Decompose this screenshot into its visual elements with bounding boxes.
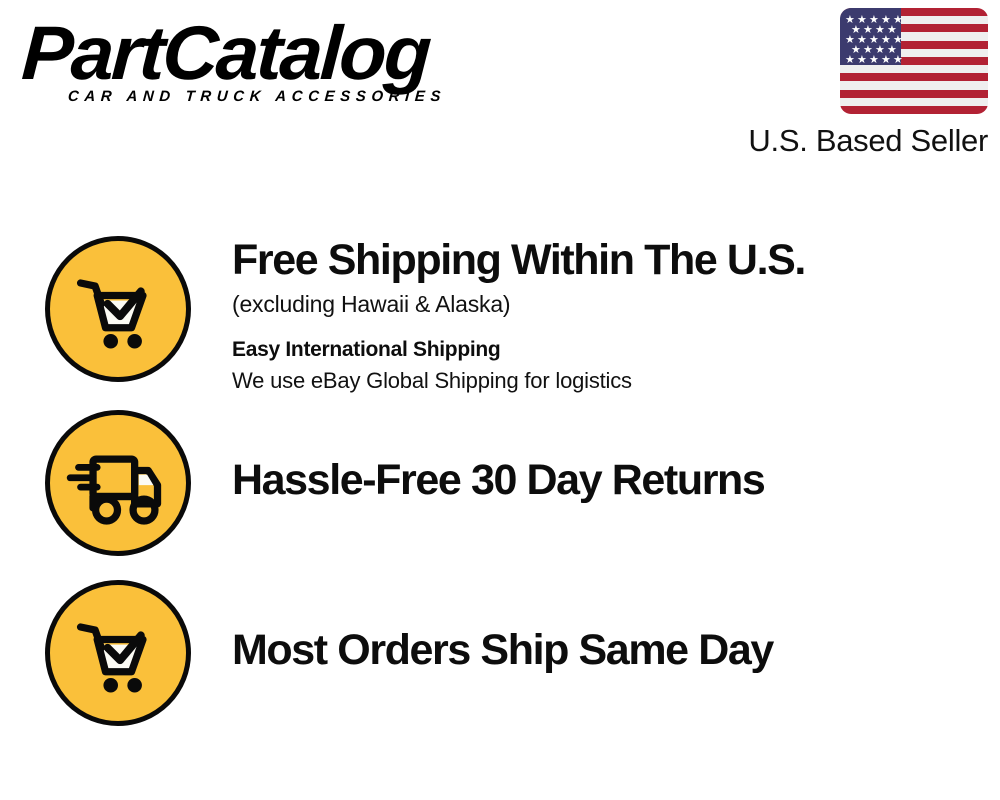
flag-star: ★ — [857, 55, 867, 66]
feature-row: Hassle-Free 30 Day Returns — [0, 410, 1000, 556]
delivery-truck-glyph — [66, 431, 170, 535]
brand-tagline: CAR AND TRUCK ACCESSORIES — [67, 88, 446, 105]
feature-text-block: Most Orders Ship Same Day — [232, 580, 1000, 674]
cart-check-glyph — [66, 257, 170, 361]
brand-wordmark: PartCatalog — [20, 16, 431, 92]
feature-subheading: Easy International Shipping — [232, 337, 1000, 363]
delivery-truck-icon — [45, 410, 191, 556]
feature-subnote: (excluding Hawaii & Alaska) — [232, 290, 1000, 320]
us-based-seller-label: U.S. Based Seller — [688, 123, 988, 159]
feature-heading: Most Orders Ship Same Day — [232, 628, 1000, 674]
flag-stripe — [840, 90, 988, 98]
feature-heading: Free Shipping Within The U.S. — [232, 238, 1000, 284]
feature-text-block: Hassle-Free 30 Day Returns — [232, 410, 1000, 504]
feature-subtext: We use eBay Global Shipping for logistic… — [232, 367, 1000, 396]
flag-stripe — [840, 106, 988, 114]
feature-text-block: Free Shipping Within The U.S. (excluding… — [232, 236, 1000, 395]
brand-logo[interactable]: PartCatalog CAR AND TRUCK ACCESSORIES — [22, 22, 502, 122]
feature-heading: Hassle-Free 30 Day Returns — [232, 458, 1000, 504]
cart-check-icon — [45, 236, 191, 382]
us-based-seller-badge: ★ ★ ★ ★ ★ ★ ★ ★ ★ ★ ★ ★ ★ ★ ★ ★ ★ ★ ★ ★ … — [688, 8, 988, 159]
flag-stripe — [840, 65, 988, 73]
flag-stripe — [840, 98, 988, 106]
flag-star: ★ — [845, 55, 855, 66]
feature-row: Free Shipping Within The U.S. (excluding… — [0, 236, 1000, 395]
flag-stripe — [840, 81, 988, 89]
us-flag-icon: ★ ★ ★ ★ ★ ★ ★ ★ ★ ★ ★ ★ ★ ★ ★ ★ ★ ★ ★ ★ … — [840, 8, 988, 114]
feature-row: Most Orders Ship Same Day — [0, 580, 1000, 726]
flag-stripe — [840, 73, 988, 81]
cart-check-icon — [45, 580, 191, 726]
flag-star: ★ — [881, 55, 891, 66]
cart-check-glyph — [66, 601, 170, 705]
flag-star: ★ — [893, 55, 903, 66]
flag-star: ★ — [869, 55, 879, 66]
